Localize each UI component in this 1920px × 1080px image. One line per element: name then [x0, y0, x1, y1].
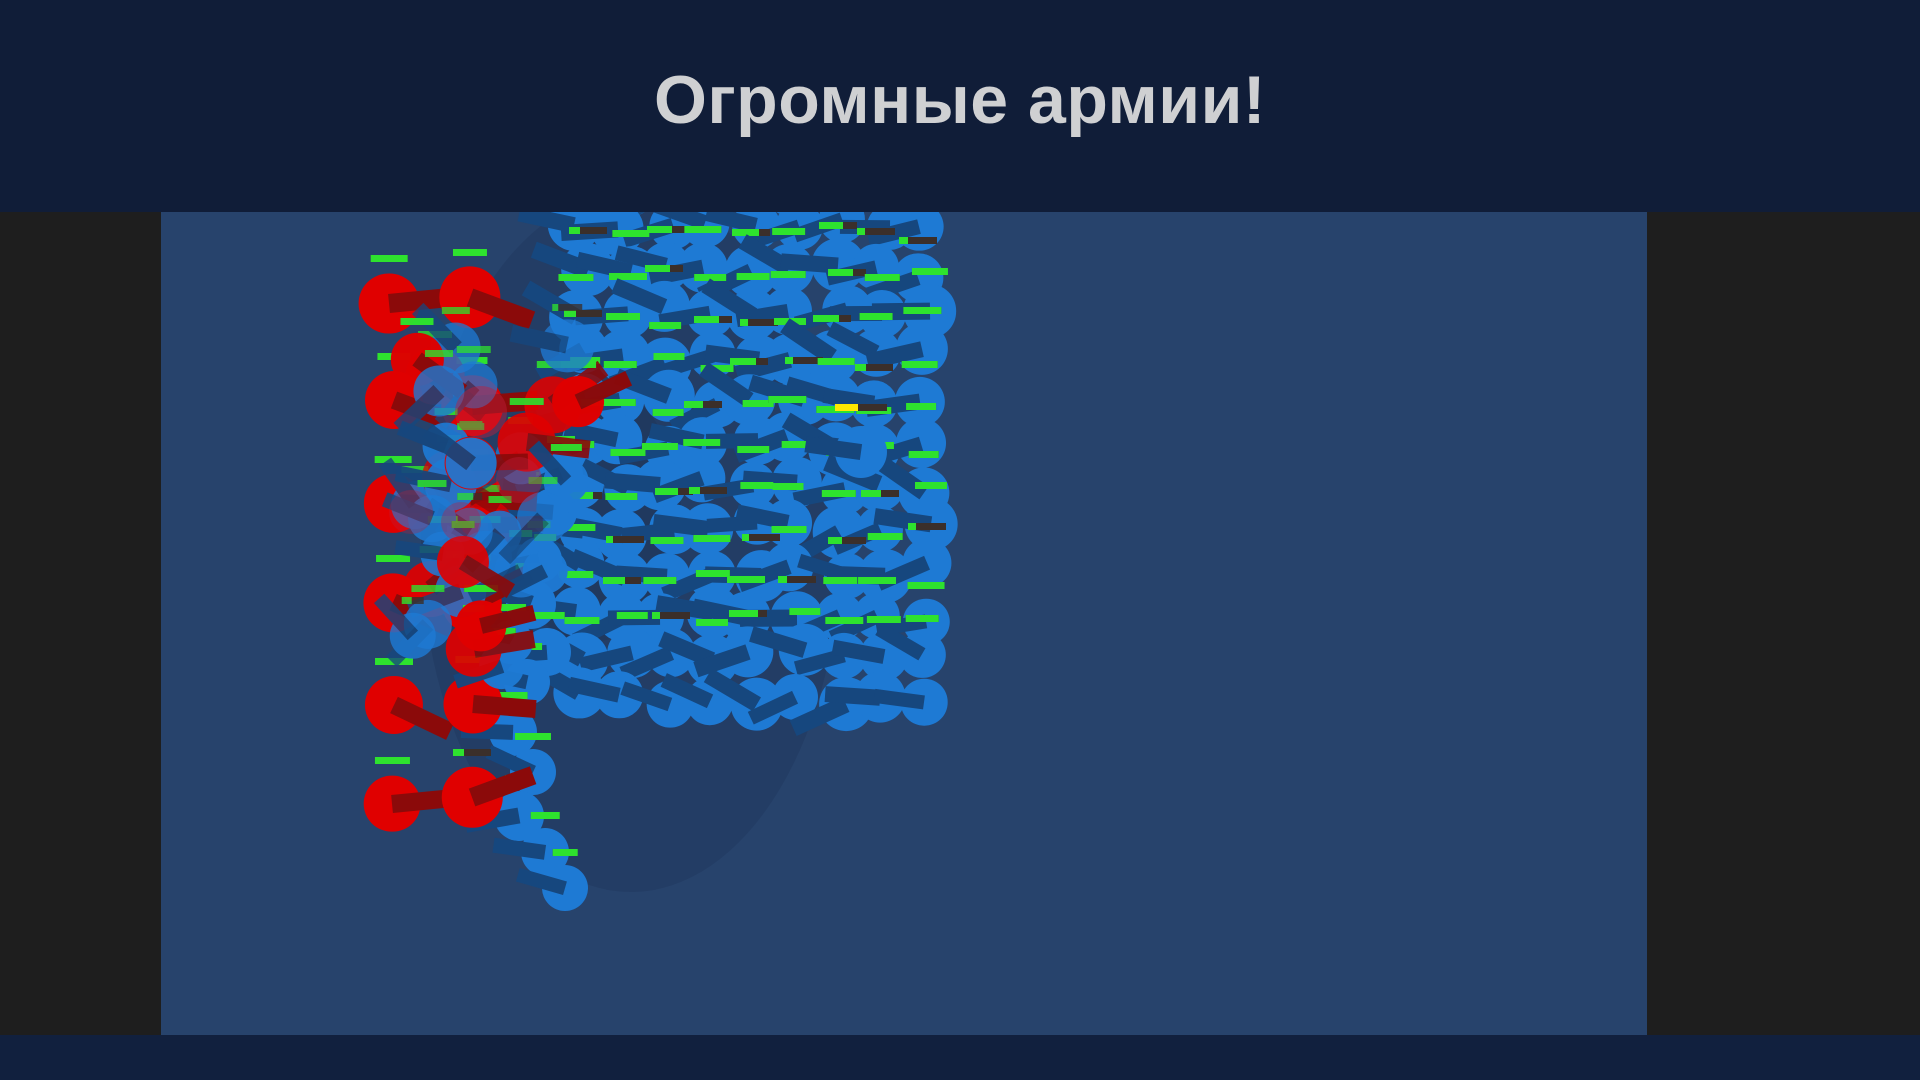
- game-canvas-container[interactable]: [161, 212, 1647, 1035]
- unit-health-bar: [509, 398, 544, 405]
- unit-health-bar: [771, 271, 806, 278]
- unit-health-fill: [742, 534, 749, 541]
- unit-health-bar: [558, 274, 593, 281]
- unit-health-bar: [828, 269, 866, 276]
- unit-health-bar: [819, 222, 857, 229]
- unit-health-fill: [609, 273, 647, 280]
- unit-health-fill: [901, 361, 938, 368]
- unit-health-fill: [603, 577, 625, 584]
- unit-health-bar: [861, 490, 899, 497]
- unit-health-fill: [822, 490, 856, 497]
- unit-health-fill: [906, 403, 936, 410]
- unit-health-fill: [867, 616, 901, 623]
- unit-health-bar: [401, 597, 424, 604]
- unit-health-bar: [553, 304, 583, 311]
- unit-health-fill: [740, 319, 748, 326]
- unit-health-bar: [515, 733, 551, 740]
- unit-health-bar: [401, 318, 434, 325]
- slide-header: Огромные армии!: [0, 0, 1920, 212]
- unit-health-bar: [769, 396, 806, 403]
- unit-health-bar: [606, 313, 640, 320]
- unit-health-bar: [441, 307, 469, 314]
- unit-health-bar: [729, 610, 767, 617]
- unit-health-fill: [684, 226, 721, 233]
- unit-health-bar: [740, 319, 778, 326]
- unit-health-fill: [617, 612, 647, 619]
- unit-health-bar: [818, 358, 855, 365]
- unit-health-bar: [771, 526, 806, 533]
- unit-health-fill: [908, 582, 945, 589]
- unit-health-fill: [868, 533, 903, 540]
- unit-health-bar: [693, 535, 730, 542]
- unit-health-bar: [612, 230, 649, 237]
- unit-health-fill: [789, 608, 820, 615]
- unit-health-fill: [599, 399, 635, 406]
- unit-health-bar: [826, 617, 863, 624]
- unit-health-fill: [515, 733, 551, 740]
- unit-health-bar: [371, 255, 408, 262]
- unit-health-fill: [376, 555, 410, 562]
- unit-health-bar: [899, 237, 937, 244]
- unit-health-fill: [553, 849, 578, 856]
- unit-health-bar: [912, 268, 948, 275]
- unit-health-fill: [488, 496, 511, 503]
- unit-health-fill: [904, 307, 941, 314]
- unit-health-bar: [860, 313, 893, 320]
- unit-health-fill: [457, 493, 473, 500]
- unit-health-fill: [772, 228, 806, 235]
- unit-health-fill: [771, 271, 806, 278]
- unit-health-bar: [694, 316, 732, 323]
- unit-health-fill: [417, 480, 446, 487]
- unit-weapon: [825, 686, 881, 705]
- page-title: Огромные армии!: [654, 66, 1266, 134]
- unit-health-bar: [773, 483, 804, 490]
- unit-health-bar: [683, 439, 721, 446]
- unit-health-fill: [531, 812, 560, 819]
- unit-health-bar: [617, 612, 647, 619]
- unit-health-bar: [778, 576, 816, 583]
- unit-health-bar: [609, 273, 647, 280]
- unit-health-bar: [610, 449, 645, 456]
- unit-health-bar: [599, 399, 635, 406]
- unit-health-fill: [865, 274, 899, 281]
- unit-health-bar: [684, 401, 722, 408]
- unit-health-bar: [822, 490, 856, 497]
- slide-footer: [0, 1035, 1920, 1080]
- unit-health-bar: [488, 496, 511, 503]
- unit-health-fill: [908, 451, 939, 458]
- unit-health-bar: [411, 585, 444, 592]
- unit-health-fill: [452, 521, 475, 528]
- unit-health-fill: [612, 230, 649, 237]
- unit-health-fill: [689, 487, 700, 494]
- unit-health-bar: [652, 612, 690, 619]
- unit-health-bar: [813, 315, 851, 322]
- unit-health-fill: [529, 477, 558, 484]
- unit-health-fill: [727, 576, 765, 583]
- unit-health-bar: [727, 576, 765, 583]
- unit-health-bar: [606, 493, 637, 500]
- unit-health-fill: [729, 610, 759, 617]
- unit-health-bar: [457, 423, 484, 430]
- unit-health-bar: [906, 615, 939, 622]
- unit-health-fill: [737, 446, 769, 453]
- unit-health-fill: [564, 617, 599, 624]
- unit-health-bar: [650, 322, 682, 329]
- unit-health-fill: [401, 597, 411, 604]
- unit-health-bar: [835, 404, 887, 411]
- unit-health-bar: [569, 227, 607, 234]
- unit-health-bar: [857, 228, 895, 235]
- unit-health-fill: [553, 304, 559, 311]
- unit-health-bar: [653, 409, 684, 416]
- unit-health-fill: [696, 619, 728, 626]
- unit-health-fill: [655, 488, 678, 495]
- unit-health-bar: [901, 361, 938, 368]
- unit-health-bar: [915, 482, 947, 489]
- unit-health-fill: [826, 617, 863, 624]
- unit-health-fill: [855, 364, 866, 371]
- unit-health-bar: [564, 617, 599, 624]
- unit-health-fill: [456, 346, 491, 353]
- unit-health-bar: [645, 265, 683, 272]
- unit-health-bar: [906, 403, 936, 410]
- unit-health-fill: [453, 249, 487, 256]
- unit-health-bar: [908, 523, 946, 530]
- unit-health-fill: [858, 577, 896, 584]
- unit-health-bar: [650, 537, 683, 544]
- unit-health-fill: [371, 255, 408, 262]
- unit-health-fill: [813, 315, 839, 322]
- unit-health-fill: [509, 398, 544, 405]
- unit-health-bar: [908, 451, 939, 458]
- unit-health-fill: [828, 269, 853, 276]
- unit-health-bar: [604, 361, 636, 368]
- unit-health-fill: [606, 313, 640, 320]
- unit-health-bar: [453, 249, 487, 256]
- unit-health-fill: [683, 439, 721, 446]
- unit-health-bar: [828, 537, 866, 544]
- unit-health-fill: [401, 318, 434, 325]
- unit-health-fill: [569, 227, 580, 234]
- unit-health-fill: [643, 577, 676, 584]
- unit-health-fill: [642, 443, 678, 450]
- unit-health-bar: [868, 533, 903, 540]
- unit-health-bar: [730, 358, 768, 365]
- unit-health-bar: [732, 229, 770, 236]
- unit-health-fill: [551, 444, 581, 451]
- unit-health-fill: [653, 353, 684, 360]
- unit-health-bar: [855, 364, 893, 371]
- unit-health-bar: [553, 849, 578, 856]
- slide-stage: Огромные армии!: [0, 0, 1920, 1080]
- unit-health-bar: [696, 619, 728, 626]
- unit-health-fill: [906, 615, 939, 622]
- unit-health-fill: [457, 423, 484, 430]
- unit-health-fill: [684, 401, 704, 408]
- unit-health-fill: [696, 570, 730, 577]
- unit-health-fill: [915, 482, 947, 489]
- unit-health-fill: [425, 350, 453, 357]
- unit-health-bar: [531, 812, 560, 819]
- unit-health-bar: [742, 534, 780, 541]
- unit-health-fill: [652, 612, 661, 619]
- unit-health-fill: [835, 404, 858, 411]
- unit-health-bar: [684, 226, 721, 233]
- unit-health-bar: [824, 577, 857, 584]
- unit-health-fill: [819, 222, 843, 229]
- unit-health-bar: [653, 353, 684, 360]
- battlefield[interactable]: [161, 212, 1647, 1035]
- unit-health-fill: [375, 757, 409, 764]
- unit-health-fill: [861, 490, 880, 497]
- unit-health-fill: [778, 576, 787, 583]
- unit-health-fill: [645, 265, 670, 272]
- unit-health-bar: [696, 570, 730, 577]
- unit-health-bar: [425, 350, 453, 357]
- unit-health-fill: [650, 322, 682, 329]
- unit-health-fill: [604, 361, 636, 368]
- unit-health-fill: [653, 409, 684, 416]
- unit-health-fill: [610, 449, 645, 456]
- unit-health-bar: [647, 226, 685, 233]
- unit-health-bar: [655, 488, 693, 495]
- unit-health-bar: [642, 443, 678, 450]
- unit-health-fill: [785, 357, 793, 364]
- unit-health-fill: [411, 585, 444, 592]
- unit-health-bar: [865, 274, 899, 281]
- unit-health-fill: [824, 577, 857, 584]
- unit-health-fill: [899, 237, 908, 244]
- unit-health-fill: [441, 307, 469, 314]
- unit-health-bar: [736, 273, 769, 280]
- unit-health-fill: [818, 358, 855, 365]
- unit-health-fill: [650, 537, 683, 544]
- unit-health-bar: [858, 577, 896, 584]
- unit-health-fill: [606, 536, 614, 543]
- unit-health-bar: [740, 482, 773, 489]
- unit-health-fill: [828, 537, 842, 544]
- unit-health-bar: [643, 577, 676, 584]
- unit-health-bar: [453, 749, 491, 756]
- unit-health-bar: [457, 493, 483, 500]
- unit-health-bar: [603, 577, 641, 584]
- unit-health-fill: [736, 273, 769, 280]
- unit-health-fill: [558, 274, 593, 281]
- unit-health-bar: [529, 477, 558, 484]
- unit-health-fill: [453, 749, 463, 756]
- unit-health-fill: [773, 483, 804, 490]
- unit-health-bar: [551, 444, 581, 451]
- unit-health-fill: [771, 526, 806, 533]
- unit-health-bar: [417, 480, 446, 487]
- unit-health-bar: [789, 608, 820, 615]
- unit-health-bar: [456, 346, 491, 353]
- unit-health-bar: [867, 616, 901, 623]
- unit-health-bar: [452, 521, 475, 528]
- unit-health-fill: [693, 535, 730, 542]
- unit-health-bar: [772, 228, 806, 235]
- unit-health-bar: [689, 487, 727, 494]
- unit-health-fill: [857, 228, 865, 235]
- unit-health-fill: [860, 313, 893, 320]
- unit-health-fill: [912, 268, 948, 275]
- unit-health-fill: [740, 482, 773, 489]
- unit-health-bar: [606, 536, 644, 543]
- unit-health-bar: [737, 446, 769, 453]
- unit-health-bar: [375, 757, 409, 764]
- unit-health-fill: [647, 226, 672, 233]
- unit-health-fill: [730, 358, 755, 365]
- unit-health-bar: [908, 582, 945, 589]
- unit-health-fill: [769, 396, 806, 403]
- unit-health-fill: [606, 493, 637, 500]
- unit-health-fill: [908, 523, 916, 530]
- unit-health-bar: [376, 555, 410, 562]
- unit-health-fill: [694, 316, 719, 323]
- unit-health-bar: [904, 307, 941, 314]
